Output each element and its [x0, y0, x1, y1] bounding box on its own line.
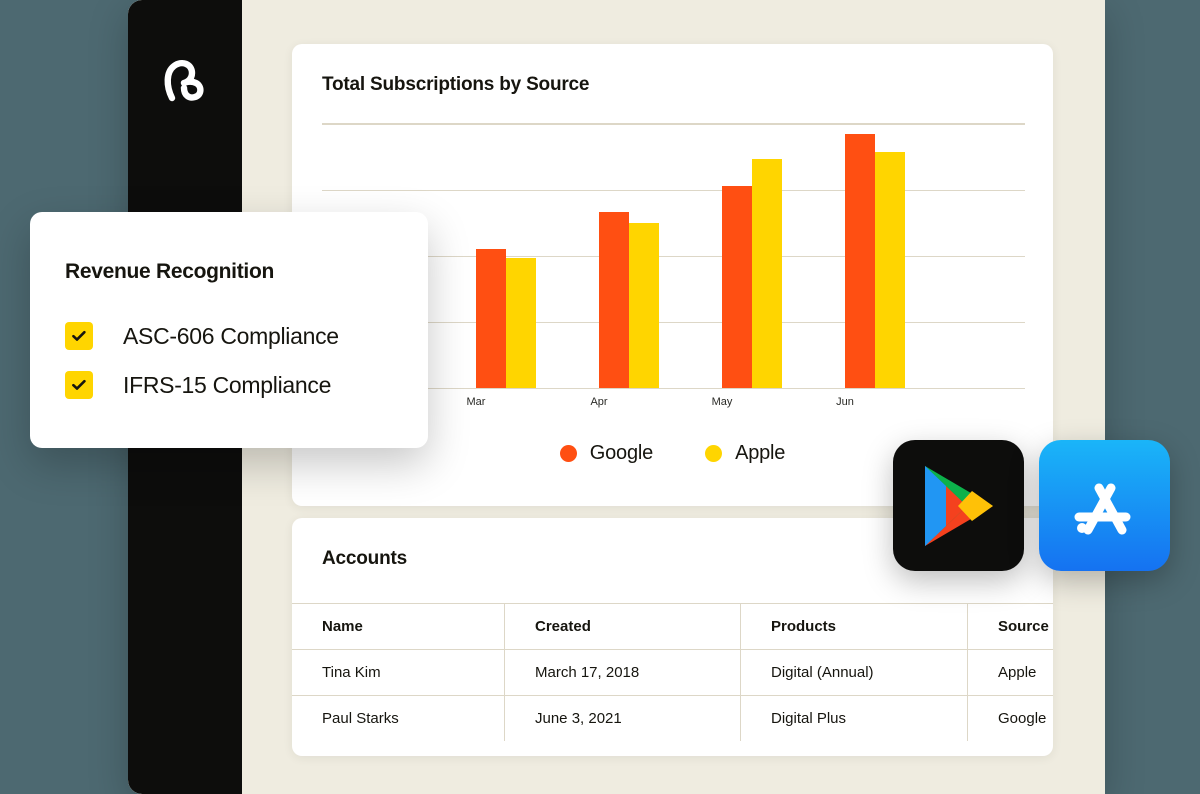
cell-name: Tina Kim [292, 650, 505, 696]
cell-name: Paul Starks [292, 696, 505, 742]
cell-created: June 3, 2021 [505, 696, 741, 742]
x-tick-may: May [682, 396, 762, 408]
x-tick-apr: Apr [559, 396, 639, 408]
column-header-products[interactable]: Products [741, 604, 968, 650]
bar-apple-jun[interactable] [875, 152, 905, 388]
table-row[interactable]: Paul Starks June 3, 2021 Digital Plus Go… [292, 696, 1053, 742]
cell-products: Digital (Annual) [741, 650, 968, 696]
recurly-logo-icon[interactable] [158, 52, 212, 106]
x-tick-mar: Mar [436, 396, 516, 408]
legend-item-google[interactable]: Google [560, 442, 653, 465]
chart-gridline [322, 124, 1025, 125]
chart-gridline [322, 190, 1025, 191]
legend-label-google: Google [590, 442, 653, 465]
x-tick-jun: Jun [805, 396, 885, 408]
legend-item-apple[interactable]: Apple [705, 442, 785, 465]
bar-apple-apr[interactable] [629, 223, 659, 388]
bar-google-apr[interactable] [599, 212, 629, 388]
table-row[interactable]: Tina Kim March 17, 2018 Digital (Annual)… [292, 650, 1053, 696]
bar-group-may [722, 159, 782, 388]
cell-source: Google [968, 696, 1054, 742]
revenue-item-ifrs-15[interactable]: IFRS-15 Compliance [65, 371, 331, 399]
accounts-table: Name Created Products Source Tina Kim Ma… [292, 603, 1053, 741]
revenue-item-asc-606[interactable]: ASC-606 Compliance [65, 322, 339, 350]
checkbox-checked-icon[interactable] [65, 322, 93, 350]
app-store-icon[interactable] [1039, 440, 1170, 571]
bar-google-mar[interactable] [476, 249, 506, 388]
revenue-recognition-card: Revenue Recognition ASC-606 Compliance I… [30, 212, 428, 448]
google-play-icon[interactable] [893, 440, 1024, 571]
bar-google-jun[interactable] [845, 134, 875, 388]
column-header-source[interactable]: Source [968, 604, 1054, 650]
bar-group-mar [476, 249, 536, 388]
bar-group-jun [845, 134, 905, 388]
accounts-card-title: Accounts [322, 548, 407, 570]
legend-dot-apple-icon [705, 445, 722, 462]
checkbox-checked-icon[interactable] [65, 371, 93, 399]
bar-google-may[interactable] [722, 186, 752, 388]
revenue-recognition-title: Revenue Recognition [65, 260, 274, 284]
legend-label-apple: Apple [735, 442, 785, 465]
table-header-row: Name Created Products Source [292, 604, 1053, 650]
legend-dot-google-icon [560, 445, 577, 462]
revenue-item-label: IFRS-15 Compliance [123, 372, 331, 399]
column-header-created[interactable]: Created [505, 604, 741, 650]
cell-created: March 17, 2018 [505, 650, 741, 696]
screenshot-stage: Total Subscriptions by Source [0, 0, 1200, 794]
chart-card-title: Total Subscriptions by Source [322, 74, 589, 96]
bar-apple-mar[interactable] [506, 258, 536, 388]
cell-products: Digital Plus [741, 696, 968, 742]
revenue-item-label: ASC-606 Compliance [123, 323, 339, 350]
bar-apple-may[interactable] [752, 159, 782, 388]
bar-group-apr [599, 212, 659, 388]
column-header-name[interactable]: Name [292, 604, 505, 650]
cell-source: Apple [968, 650, 1054, 696]
